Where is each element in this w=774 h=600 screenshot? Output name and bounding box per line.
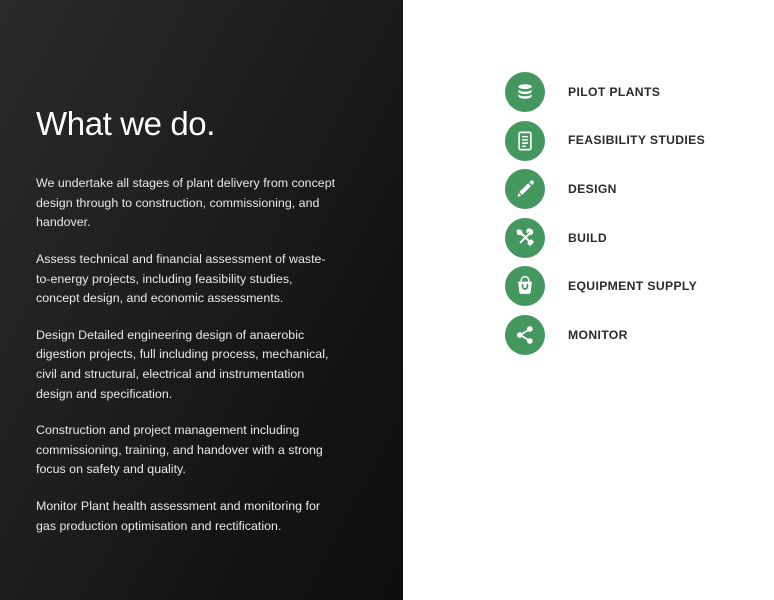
left-content: What we do. We undertake all stages of p… [36, 106, 354, 536]
service-list: PILOT PLANTS FEASIBILITY STUDIE [505, 72, 705, 355]
service-label: PILOT PLANTS [568, 86, 660, 98]
database-icon [505, 72, 545, 112]
pencil-icon [505, 169, 545, 209]
service-label: BUILD [568, 232, 607, 244]
service-label: EQUIPMENT SUPPLY [568, 280, 697, 292]
body-paragraph-1: We undertake all stages of plant deliver… [36, 174, 338, 233]
slide: What we do. We undertake all stages of p… [0, 0, 774, 600]
service-item-equipment-supply[interactable]: EQUIPMENT SUPPLY [505, 266, 705, 306]
service-item-pilot-plants[interactable]: PILOT PLANTS [505, 72, 705, 112]
service-label: FEASIBILITY STUDIES [568, 134, 705, 146]
service-label: MONITOR [568, 329, 628, 341]
service-item-design[interactable]: DESIGN [505, 169, 705, 209]
right-white-panel: PILOT PLANTS FEASIBILITY STUDIE [403, 0, 774, 600]
service-item-monitor[interactable]: MONITOR [505, 315, 705, 355]
body-paragraph-5: Monitor Plant health assessment and moni… [36, 497, 338, 536]
page-title: What we do. [36, 106, 354, 142]
service-item-feasibility-studies[interactable]: FEASIBILITY STUDIES [505, 121, 705, 161]
body-paragraph-3: Design Detailed engineering design of an… [36, 326, 338, 404]
document-lines-icon [505, 121, 545, 161]
basket-icon [505, 266, 545, 306]
share-icon [505, 315, 545, 355]
left-dark-panel: What we do. We undertake all stages of p… [0, 0, 403, 600]
service-label: DESIGN [568, 183, 617, 195]
body-paragraph-2: Assess technical and financial assessmen… [36, 250, 338, 309]
service-item-build[interactable]: BUILD [505, 218, 705, 258]
body-paragraph-4: Construction and project management incl… [36, 421, 338, 480]
hammer-wrench-icon [505, 218, 545, 258]
